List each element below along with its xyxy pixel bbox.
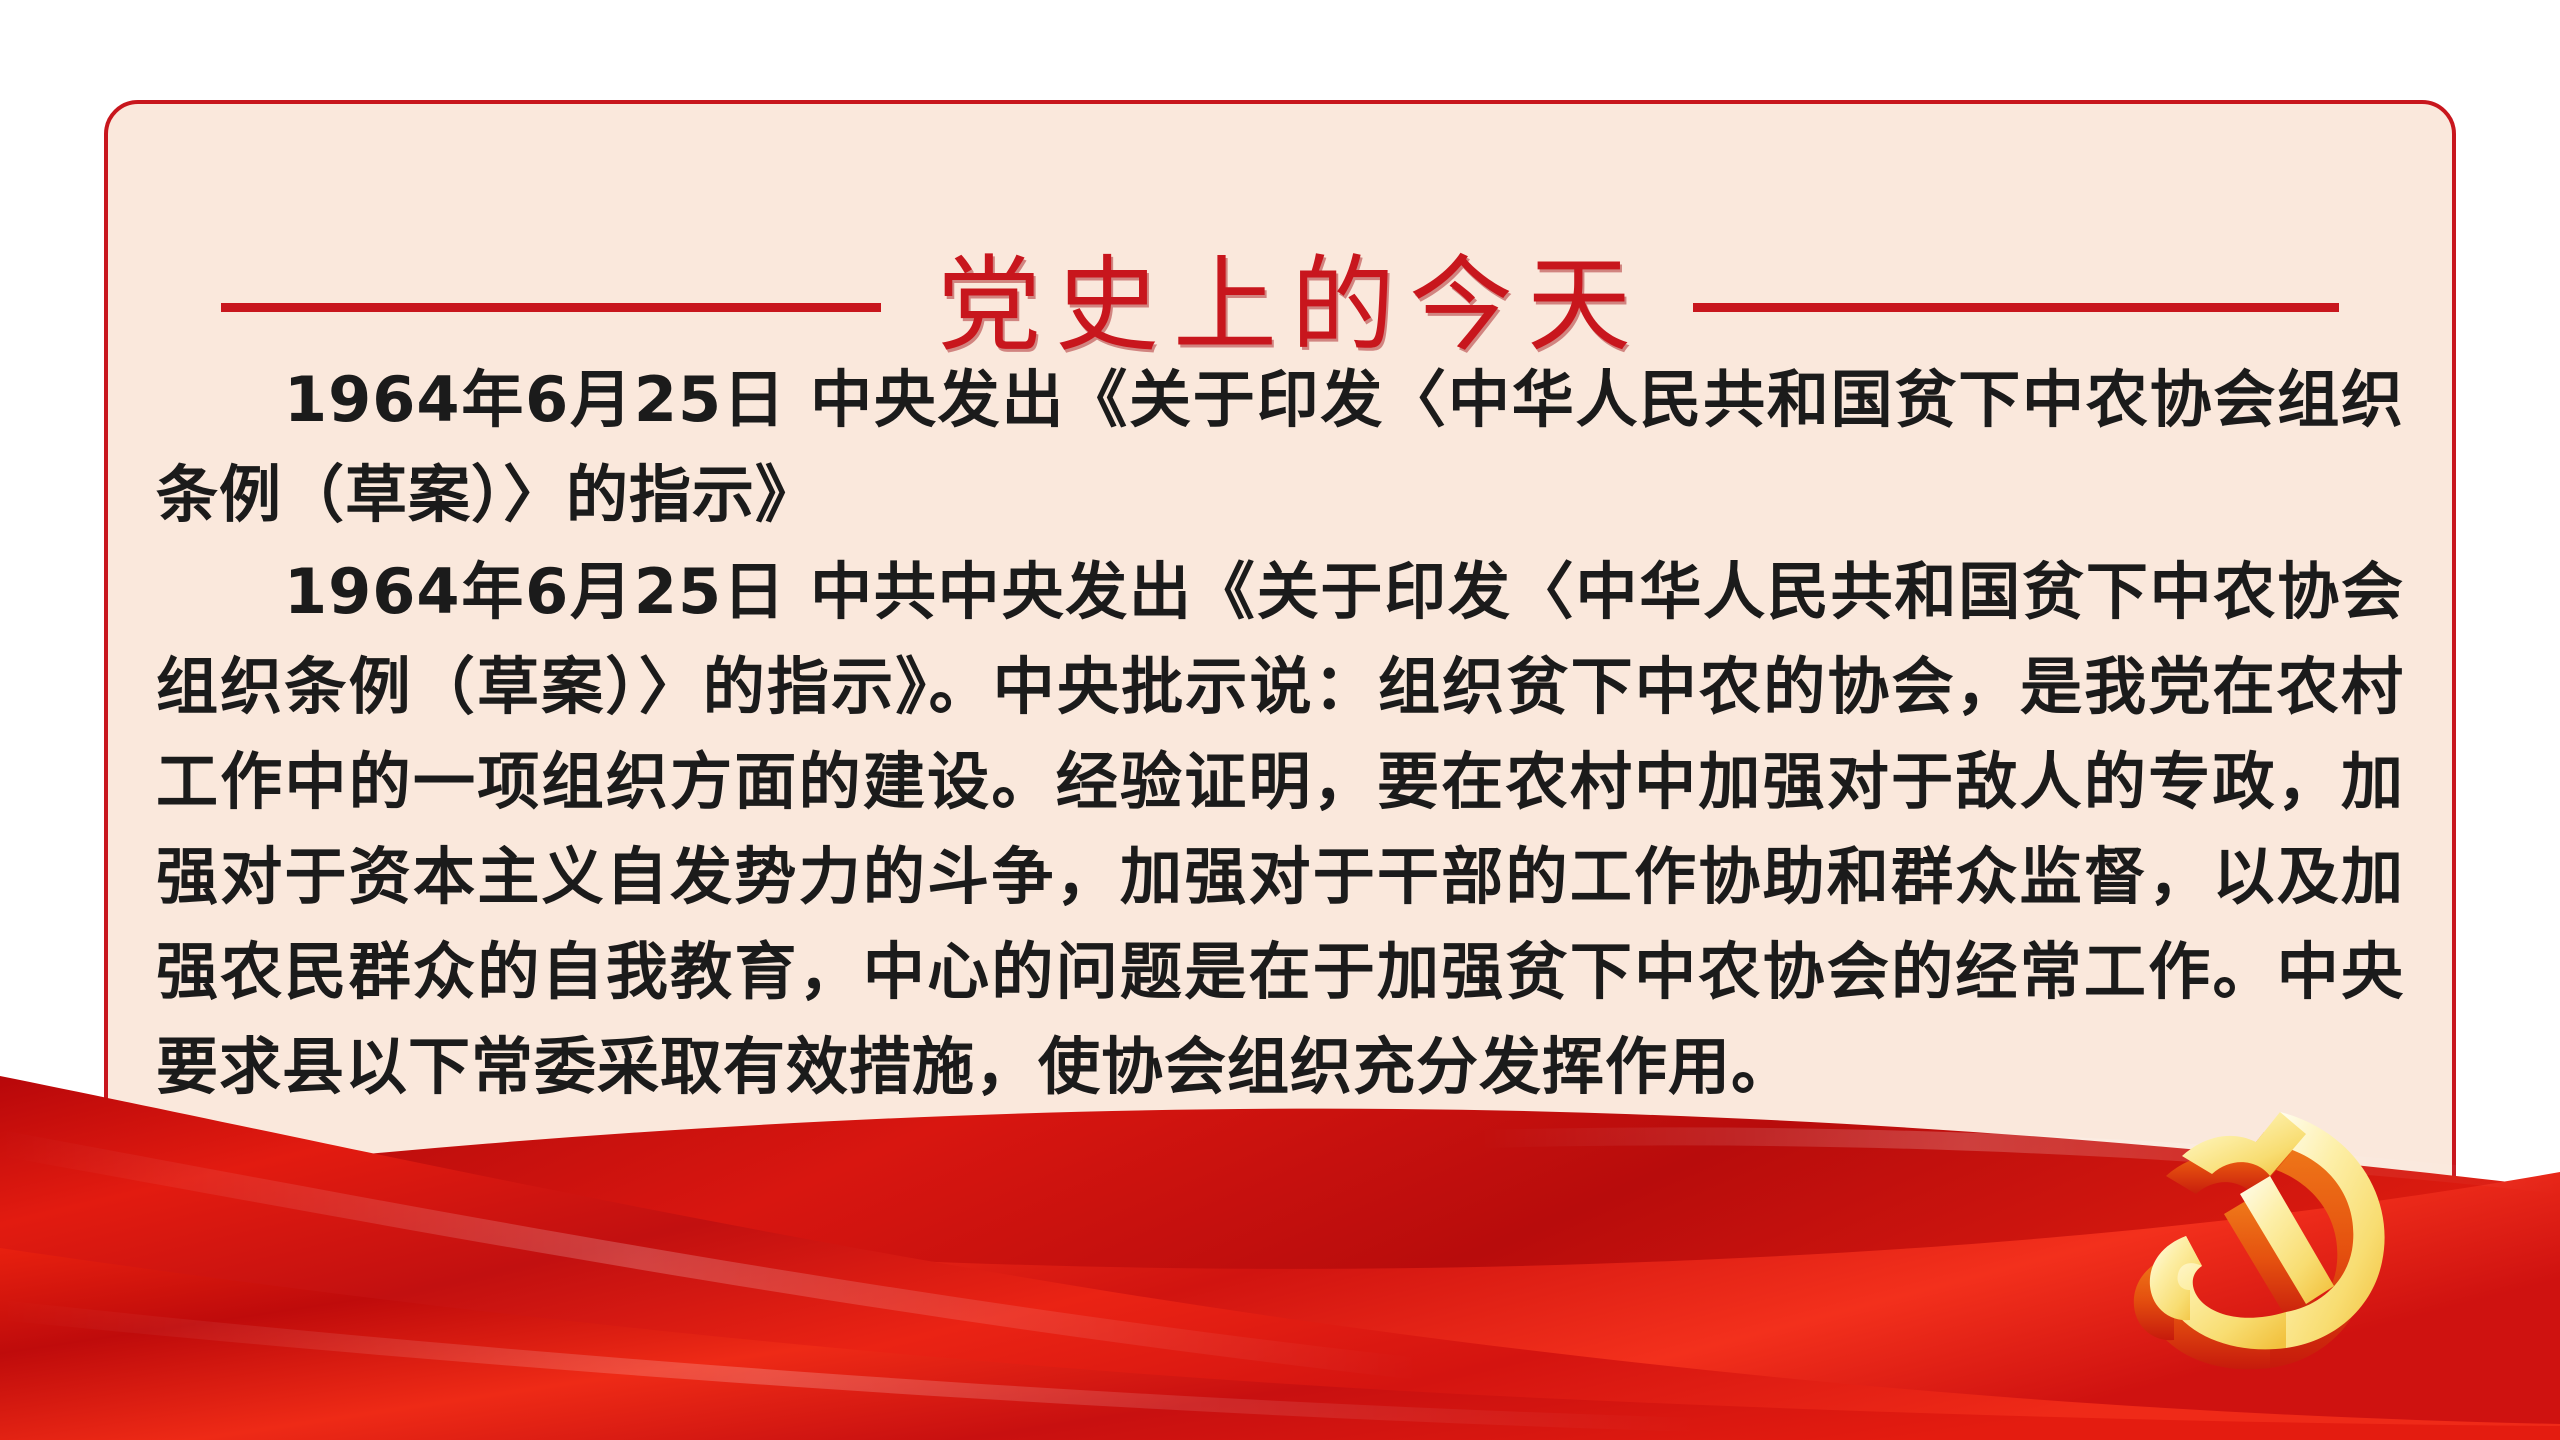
- title-rule-right-icon: [1693, 303, 2339, 312]
- article-body: 1964年6月25日 中央发出《关于印发〈中华人民共和国贫下中农协会组织条例（草…: [156, 352, 2404, 1116]
- page-title: 党史上的今天: [929, 255, 1645, 359]
- poster-canvas: 党史上的今天 1964年6月25日 中央发出《关于印发〈中华人民共和国贫下中农协…: [0, 0, 2560, 1440]
- content-card: 党史上的今天 1964年6月25日 中央发出《关于印发〈中华人民共和国贫下中农协…: [104, 100, 2456, 1396]
- title-rule-left-icon: [221, 303, 881, 312]
- paragraph-1: 1964年6月25日 中央发出《关于印发〈中华人民共和国贫下中农协会组织条例（草…: [156, 352, 2404, 542]
- paragraph-2: 1964年6月25日 中共中央发出《关于印发〈中华人民共和国贫下中农协会组织条例…: [156, 544, 2404, 1114]
